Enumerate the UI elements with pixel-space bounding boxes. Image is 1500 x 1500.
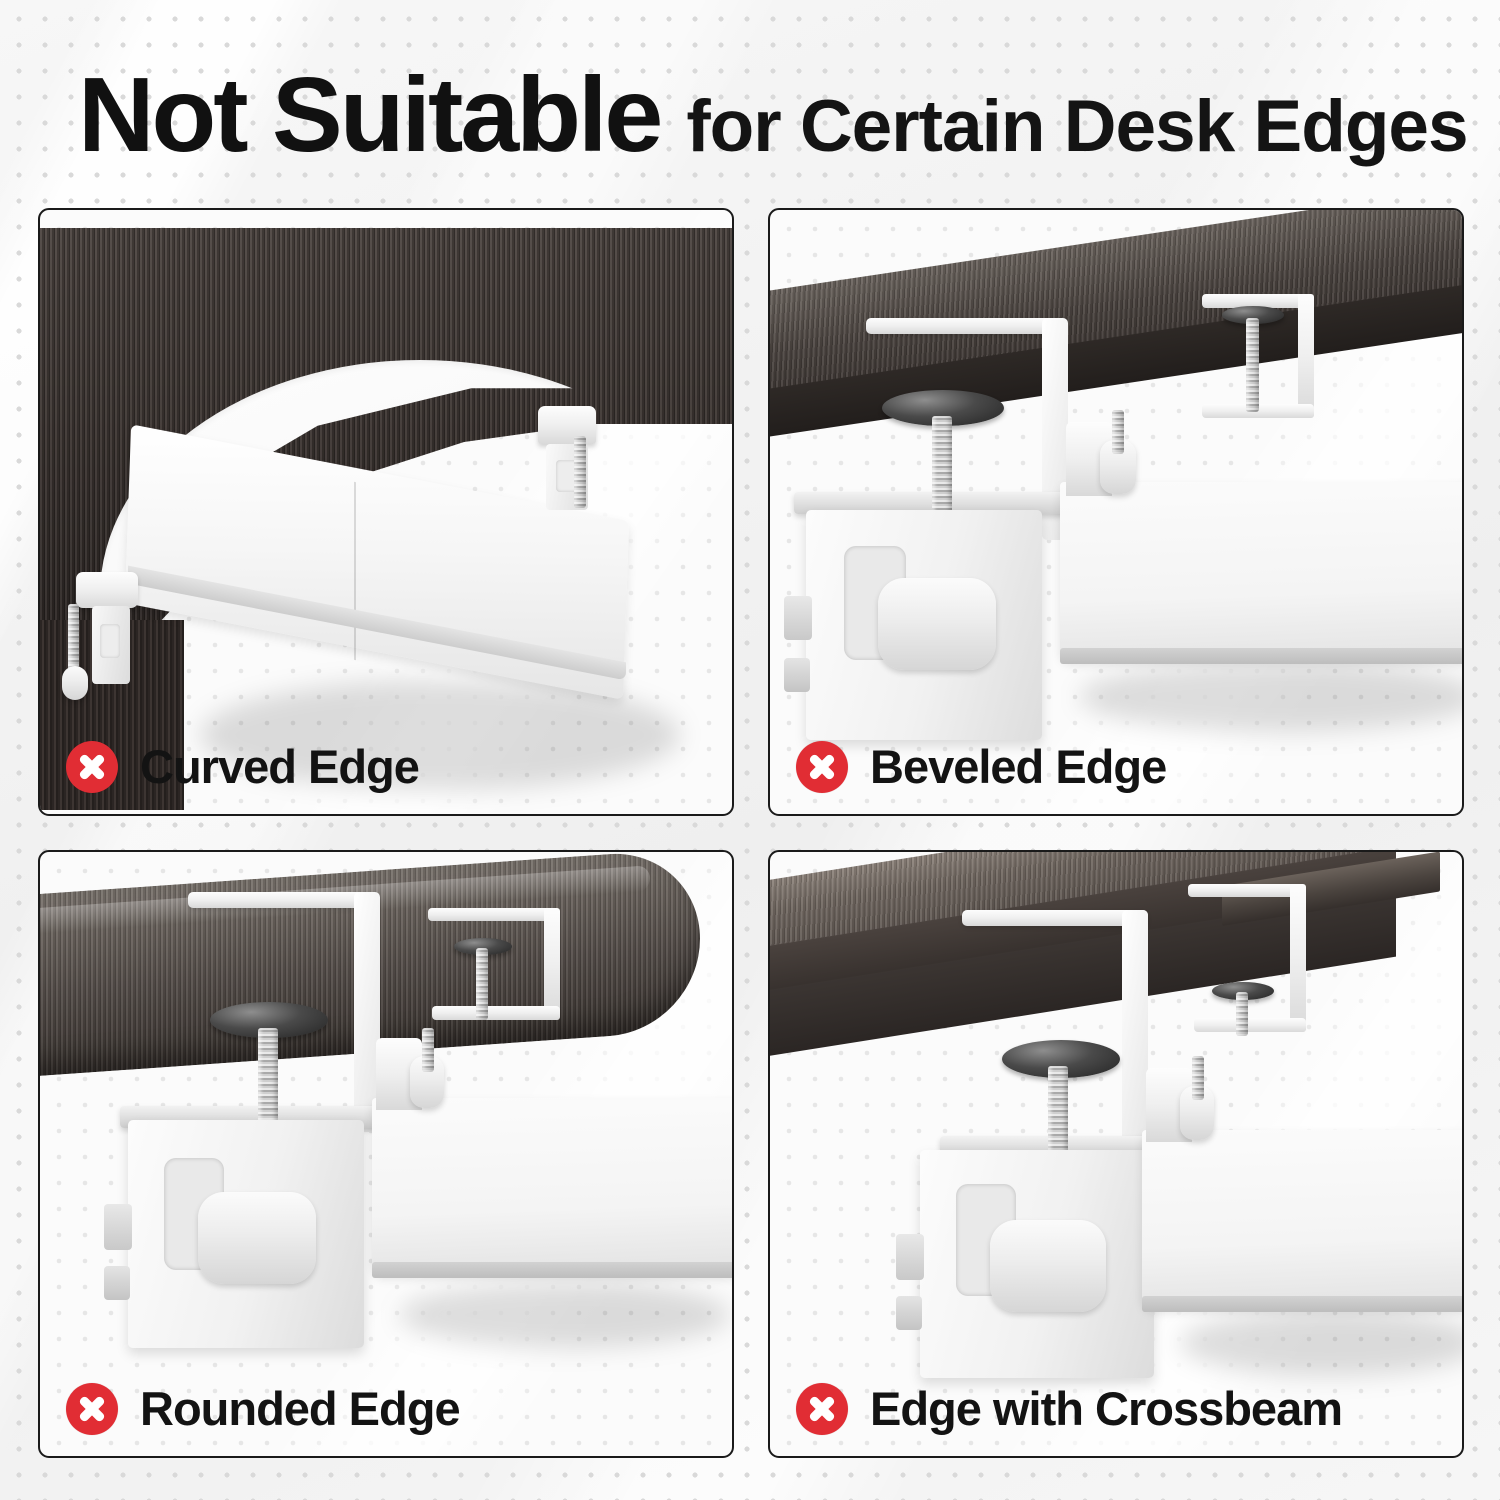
panel-label: Curved Edge [140,739,419,794]
clamp-side-rail-lower [104,1266,130,1300]
clamp-near-top-arm [962,910,1148,926]
tray-rail [372,1262,734,1278]
panel-rounded-edge[interactable]: Rounded Edge [38,850,734,1458]
caption-beveled-edge: Beveled Edge [796,739,1166,794]
tray-rail [1142,1296,1464,1312]
x-circle-icon [66,741,118,793]
panel-grid: Curved Edge [38,208,1464,1466]
scene-edge-with-crossbeam [770,852,1462,1456]
clamp-side-rail [784,596,812,640]
tray-riser-screw [1112,410,1124,454]
tray-riser-screw [422,1028,434,1072]
clamp-window-left [100,624,120,658]
page-title: Not Suitable for Certain Desk Edges [78,62,1478,182]
clamp-far-top-arm [1188,884,1304,897]
tray-rail [1060,648,1464,664]
x-circle-icon [796,741,848,793]
clamp-bracket-left [76,572,138,608]
keyboard-tray [1142,1130,1464,1308]
keyboard-tray [1060,482,1464,660]
panel-label: Edge with Crossbeam [870,1381,1342,1436]
clamp-near-top-arm [188,892,378,908]
scene-curved-edge [40,210,732,814]
clamp-screw-right [574,436,586,508]
caption-rounded-edge: Rounded Edge [66,1381,460,1436]
clamp-near-top-arm [866,318,1066,334]
caption-edge-with-crossbeam: Edge with Crossbeam [796,1381,1342,1436]
clamp-far-screw [476,948,488,1020]
clamp-side-rail [896,1234,924,1280]
clamp-thumb-knob [198,1192,316,1284]
panel-curved-edge[interactable]: Curved Edge [38,208,734,816]
clamp-thumb-knob [878,578,996,670]
scene-rounded-edge [40,852,732,1456]
clamp-side-rail-lower [784,658,810,692]
panel-beveled-edge[interactable]: Beveled Edge [768,208,1464,816]
panel-label: Beveled Edge [870,739,1166,794]
clamp-far-bottom-arm [1194,1018,1306,1032]
tray-drop-shadow [400,1282,730,1348]
page-title-strong: Not Suitable [78,62,660,168]
tray-riser-screw [1192,1056,1204,1100]
panel-label: Rounded Edge [140,1381,460,1436]
clamp-far-vertical [544,908,560,1020]
caption-curved-edge: Curved Edge [66,739,419,794]
tray-drop-shadow [1080,662,1464,732]
x-circle-icon [796,1383,848,1435]
clamp-far-vertical [1298,294,1314,418]
clamp-far-vertical [1290,884,1306,1032]
clamp-far-screw [1246,318,1259,412]
x-circle-icon [66,1383,118,1435]
tray-split-seam [354,482,356,660]
clamp-knob-left [62,666,88,700]
clamp-far-top-arm [428,908,558,921]
clamp-thumb-knob [990,1220,1106,1312]
page-title-light: for Certain Desk Edges [686,90,1467,163]
clamp-near-vertical [1122,910,1148,1162]
scene-beveled-edge [770,210,1462,814]
clamp-far-screw [1236,992,1248,1036]
panel-edge-with-crossbeam[interactable]: Edge with Crossbeam [768,850,1464,1458]
tray-drop-shadow [1180,1310,1464,1376]
clamp-bracket-right [538,406,596,444]
keyboard-tray [372,1098,734,1274]
clamp-far-bottom-arm [432,1006,560,1020]
clamp-side-rail [104,1204,132,1250]
clamp-side-rail-lower [896,1296,922,1330]
